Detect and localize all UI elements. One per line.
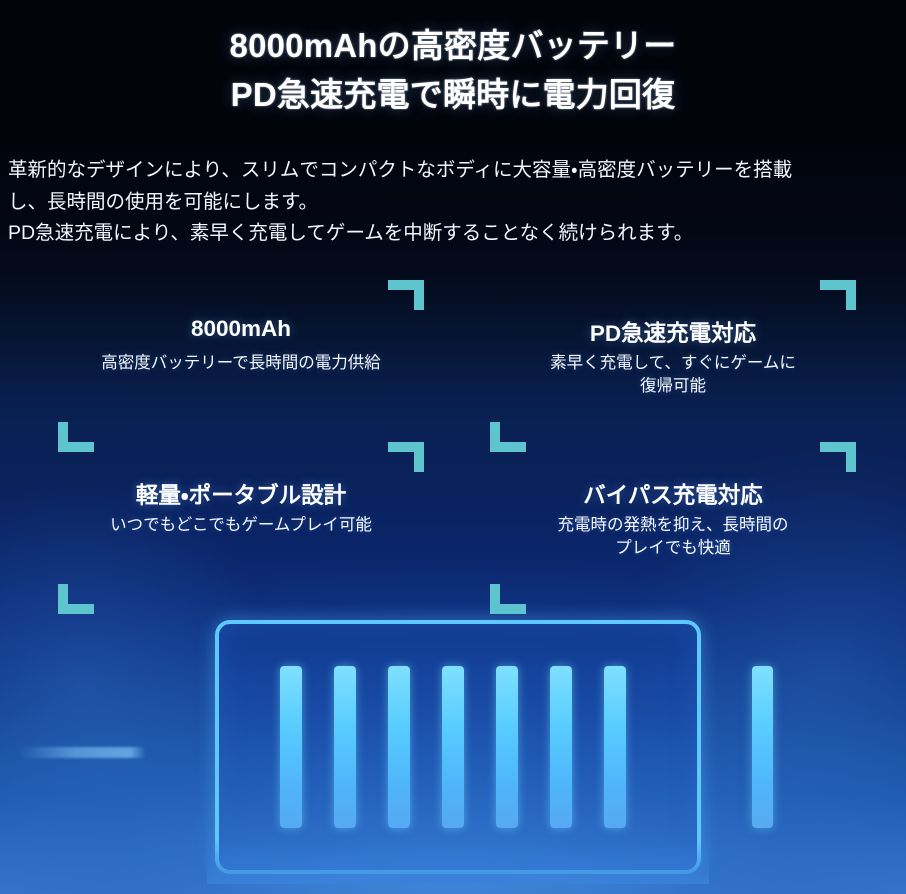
feature-card-bypass-charge: バイパス充電対応 充電時の発熱を抑え、長時間の プレイでも快適 xyxy=(490,466,856,592)
battery-cell-detached xyxy=(752,666,773,828)
feature-description: いつでもどこでもゲームプレイ可能 xyxy=(58,514,424,537)
feature-description-line: 素早く充電して、すぐにゲームに xyxy=(490,352,856,375)
battery-cell xyxy=(550,666,572,828)
feature-description: 充電時の発熱を抑え、長時間の プレイでも快適 xyxy=(490,514,856,561)
corner-bracket-bottom-left-icon xyxy=(490,584,526,614)
feature-description: 素早く充電して、すぐにゲームに 復帰可能 xyxy=(490,352,856,399)
battery-cell xyxy=(334,666,356,828)
intro-line-2: し、長時間の使用を可能にします。 xyxy=(8,187,898,219)
feature-card-pd-fast-charge: PD急速充電対応 素早く充電して、すぐにゲームに 復帰可能 xyxy=(490,304,856,430)
battery-illustration xyxy=(215,620,701,874)
feature-grid: 8000mAh 高密度バッテリーで長時間の電力供給 PD急速充電対応 素早く充電… xyxy=(0,296,906,596)
feature-title: 8000mAh xyxy=(58,316,424,342)
feature-description-line: いつでもどこでもゲームプレイ可能 xyxy=(58,514,424,537)
feature-card-portable-design: 軽量・ポータブル設計 いつでもどこでもゲームプレイ可能 xyxy=(58,466,424,592)
intro-line-3: PD急速充電により、素早く充電してゲームを中断することなく続けられます。 xyxy=(8,218,898,250)
page-title: 8000mAhの高密度バッテリー PD急速充電で瞬時に電力回復 xyxy=(0,22,906,119)
battery-cell xyxy=(388,666,410,828)
feature-title: 軽量・ポータブル設計 xyxy=(58,478,424,510)
intro-line-1: 革新的なデザインにより、スリムでコンパクトなボディに大容量・高密度バッテリーを搭… xyxy=(8,155,898,187)
light-streak-decoration xyxy=(18,747,146,758)
feature-card-capacity: 8000mAh 高密度バッテリーで長時間の電力供給 xyxy=(58,304,424,430)
feature-description: 高密度バッテリーで長時間の電力供給 xyxy=(58,352,424,375)
battery-feature-panel: 8000mAhの高密度バッテリー PD急速充電で瞬時に電力回復 革新的なデザイン… xyxy=(0,0,906,894)
battery-cell xyxy=(496,666,518,828)
corner-bracket-top-right-icon xyxy=(820,280,856,310)
battery-cell xyxy=(280,666,302,828)
corner-bracket-top-right-icon xyxy=(388,442,424,472)
feature-description-line: 復帰可能 xyxy=(490,375,856,398)
feature-description-line: 充電時の発熱を抑え、長時間の xyxy=(490,514,856,537)
corner-bracket-bottom-left-icon xyxy=(58,422,94,452)
corner-bracket-bottom-left-icon xyxy=(490,422,526,452)
intro-paragraph: 革新的なデザインにより、スリムでコンパクトなボディに大容量・高密度バッテリーを搭… xyxy=(8,155,898,250)
feature-description-line: 高密度バッテリーで長時間の電力供給 xyxy=(58,352,424,375)
feature-description-line: プレイでも快適 xyxy=(490,537,856,560)
corner-bracket-top-right-icon xyxy=(820,442,856,472)
corner-bracket-top-right-icon xyxy=(388,280,424,310)
feature-title: PD急速充電対応 xyxy=(490,316,856,348)
feature-title: バイパス充電対応 xyxy=(490,478,856,510)
battery-cell xyxy=(442,666,464,828)
corner-bracket-bottom-left-icon xyxy=(58,584,94,614)
battery-cell xyxy=(604,666,626,828)
page-title-line-2: PD急速充電で瞬時に電力回復 xyxy=(0,71,906,120)
page-title-line-1: 8000mAhの高密度バッテリー xyxy=(0,22,906,71)
